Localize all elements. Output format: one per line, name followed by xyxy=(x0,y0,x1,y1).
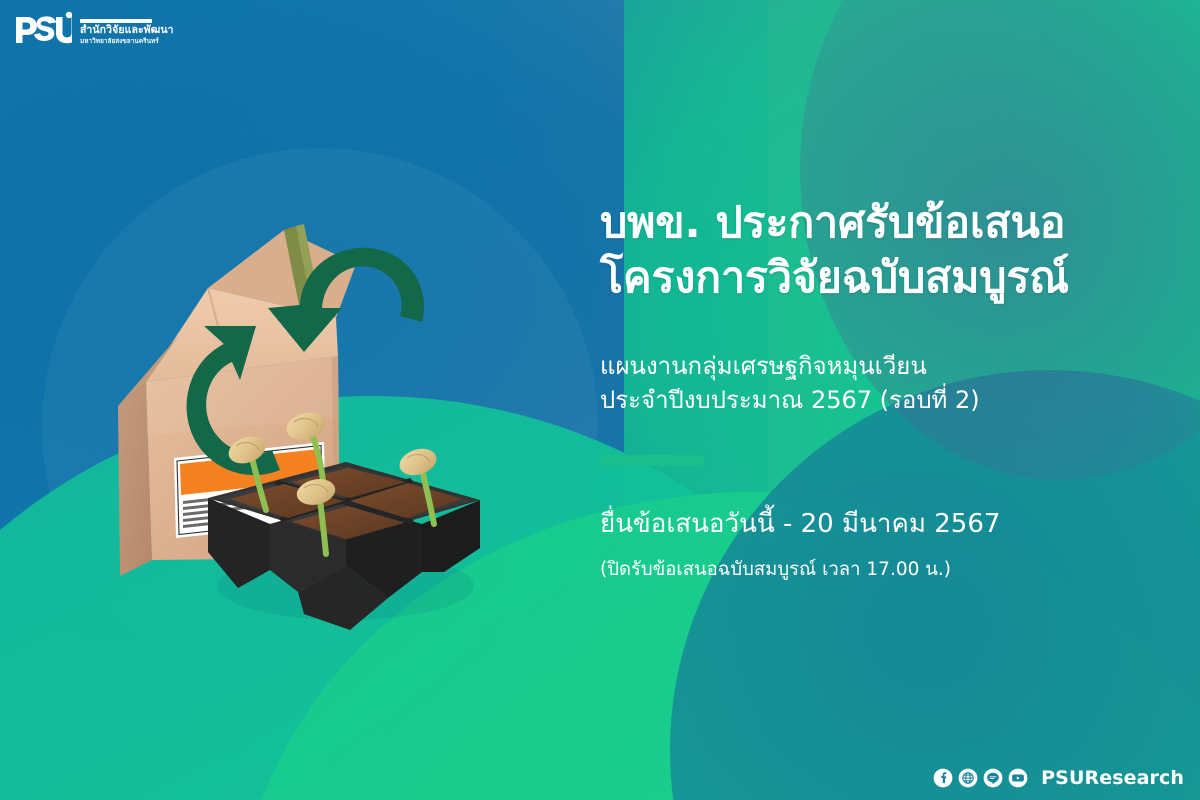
line-chat-icon[interactable] xyxy=(983,768,1003,788)
footer-social-bar: PSUResearch xyxy=(933,768,1184,788)
logo-university-name: มหาวิทยาลัยสงขลานครินทร์ xyxy=(80,38,174,45)
psu-logo-icon xyxy=(14,10,72,52)
deadline-text: ยื่นข้อเสนอวันนี้ - 20 มีนาคม 2567 xyxy=(600,508,1168,542)
headline-line-2: โครงการวิจัยฉบับสมบูรณ์ xyxy=(600,251,1168,306)
deadline-note: (ปิดรับข้อเสนอฉบับสมบูรณ์ เวลา 17.00 น.) xyxy=(600,558,1168,583)
headline-line-1: บพข. ประกาศรับข้อเสนอ xyxy=(600,198,1065,248)
logo-rule-divider xyxy=(80,19,152,23)
footer-handle[interactable]: PSUResearch xyxy=(1041,769,1184,788)
accent-divider xyxy=(600,455,704,466)
poster-canvas: สำนักวิจัยและพัฒนา มหาวิทยาลัยสงขลานคริน… xyxy=(0,0,1200,800)
illustration-recycling-seedlings: 400g xyxy=(88,168,528,638)
illustration-svg: 400g xyxy=(88,168,528,638)
subtitle: แผนงานกลุ่มเศรษฐกิจหมุนเวียน ประจำปีงบปร… xyxy=(600,349,1168,417)
website-globe-icon[interactable] xyxy=(958,768,978,788)
social-icon-row xyxy=(933,768,1028,788)
copy-block: บพข. ประกาศรับข้อเสนอ โครงการวิจัยฉบับสม… xyxy=(600,196,1168,583)
page-title: บพข. ประกาศรับข้อเสนอ โครงการวิจัยฉบับสม… xyxy=(600,196,1168,307)
logo-text-block: สำนักวิจัยและพัฒนา มหาวิทยาลัยสงขลานคริน… xyxy=(80,17,174,46)
subtitle-line-2: ประจำปีงบประมาณ 2567 (รอบที่ 2) xyxy=(600,383,1168,417)
psu-logo[interactable]: สำนักวิจัยและพัฒนา มหาวิทยาลัยสงขลานคริน… xyxy=(14,10,174,52)
subtitle-line-1: แผนงานกลุ่มเศรษฐกิจหมุนเวียน xyxy=(600,352,927,380)
youtube-icon[interactable] xyxy=(1008,768,1028,788)
logo-office-name: สำนักวิจัยและพัฒนา xyxy=(80,25,174,37)
facebook-icon[interactable] xyxy=(933,768,953,788)
